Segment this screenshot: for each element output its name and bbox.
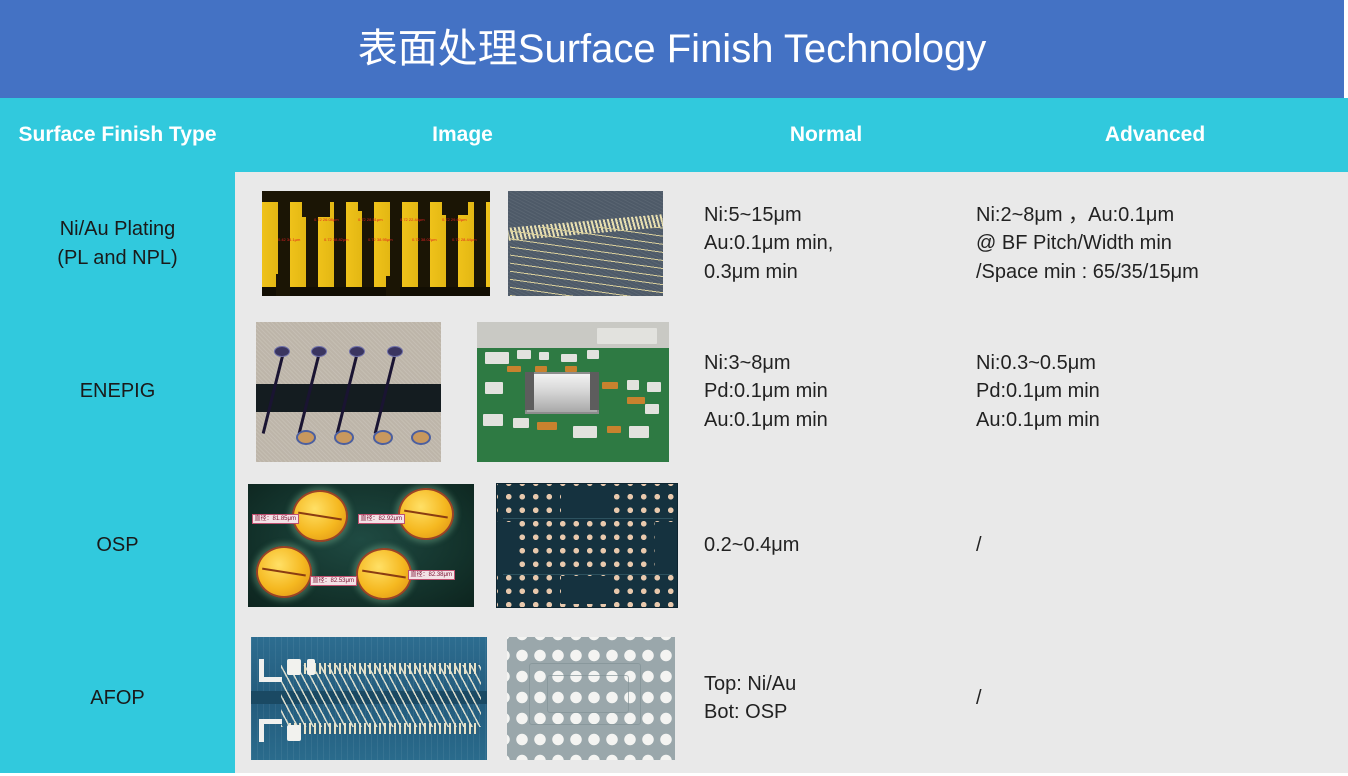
osp-diameter-label: 直径：82.38μm [408,570,455,580]
table-header-row: Surface Finish Type Image Normal Advance… [0,98,1348,172]
cell-image-osp: 直径：81.85μm 直径：82.92μm 直径：82.53μm 直径：82.3… [235,468,690,623]
cell-advanced-ni-au-plating: Ni:2~8μm ，Au:0.1μm @ BF Pitch/Width min … [962,172,1348,315]
column-header-image: Image [235,98,690,172]
image-pair [235,322,690,462]
cell-normal-ni-au-plating: Ni:5~15μm Au:0.1μm min, 0.3μm min [690,172,962,315]
cell-type-enepig: ENEPIG [0,315,235,468]
normal-spec-text: Ni:3~8μm Pd:0.1μm min Au:0.1μm min [690,349,962,434]
osp-diameter-label: 直径：82.53μm [310,576,357,586]
table-row: AFOP [0,623,1348,773]
advanced-spec-text: Ni:0.3~0.5μm Pd:0.1μm min Au:0.1μm min [962,349,1348,434]
image-pair: 0.72 26.08µm 0.72 28.51µm 0.72 22.44µm 0… [235,191,690,296]
page-title: 表面处理Surface Finish Technology [358,29,986,69]
normal-spec-text: 0.2~0.4μm [690,531,962,559]
table-row: OSP 直径：81.85μm 直径：82.92μm 直径：82.53μm 直径：… [0,468,1348,623]
osp-diameter-label: 直径：82.92μm [358,514,405,524]
cell-image-afop [235,623,690,773]
cell-advanced-osp: / [962,468,1348,623]
type-label: ENEPIG [0,377,235,406]
cell-advanced-afop: / [962,623,1348,773]
type-label: AFOP [0,684,235,713]
surface-finish-table: Surface Finish Type Image Normal Advance… [0,98,1348,773]
osp-diameter-label: 直径：81.85μm [252,514,299,524]
cell-image-ni-au-plating: 0.72 26.08µm 0.72 28.51µm 0.72 22.44µm 0… [235,172,690,315]
table-row: Ni/Au Plating (PL and NPL) 0.72 26.08µm [0,172,1348,315]
cell-normal-osp: 0.2~0.4μm [690,468,962,623]
cell-advanced-enepig: Ni:0.3~0.5μm Pd:0.1μm min Au:0.1μm min [962,315,1348,468]
type-label: OSP [0,531,235,560]
slide-title-band: 表面处理Surface Finish Technology [0,0,1344,98]
green-pcb-component-photo [477,322,669,462]
image-pair: 直径：81.85μm 直径：82.92μm 直径：82.53μm 直径：82.3… [235,483,690,608]
advanced-spec-text: / [962,684,1348,712]
table-row: ENEPIG [0,315,1348,468]
cell-type-ni-au-plating: Ni/Au Plating (PL and NPL) [0,172,235,315]
column-header-surface-finish-type: Surface Finish Type [0,98,235,172]
normal-spec-text: Ni:5~15μm Au:0.1μm min, 0.3μm min [690,201,962,286]
cell-normal-afop: Top: Ni/Au Bot: OSP [690,623,962,773]
advanced-spec-text: / [962,531,1348,559]
cell-image-enepig [235,315,690,468]
cell-type-osp: OSP [0,468,235,623]
osp-bga-pad-array-photo [496,483,678,608]
afop-gray-pad-array-photo [507,637,675,760]
image-pair [235,637,690,760]
type-label: Ni/Au Plating (PL and NPL) [0,215,235,273]
normal-spec-text: Top: Ni/Au Bot: OSP [690,670,962,727]
advanced-spec-text: Ni:2~8μm ，Au:0.1μm @ BF Pitch/Width min … [962,201,1348,286]
enepig-wire-bond-macro-photo [256,322,441,462]
cell-type-afop: AFOP [0,623,235,773]
gold-wire-bond-row-photo [508,191,663,296]
column-header-normal: Normal [690,98,962,172]
osp-gold-pads-photo: 直径：81.85μm 直径：82.92μm 直径：82.53μm 直径：82.3… [248,484,474,607]
afop-bonded-die-photo [251,637,487,760]
ni-au-comb-traces-photo: 0.72 26.08µm 0.72 28.51µm 0.72 22.44µm 0… [262,191,490,296]
column-header-advanced: Advanced [962,98,1348,172]
cell-normal-enepig: Ni:3~8μm Pd:0.1μm min Au:0.1μm min [690,315,962,468]
